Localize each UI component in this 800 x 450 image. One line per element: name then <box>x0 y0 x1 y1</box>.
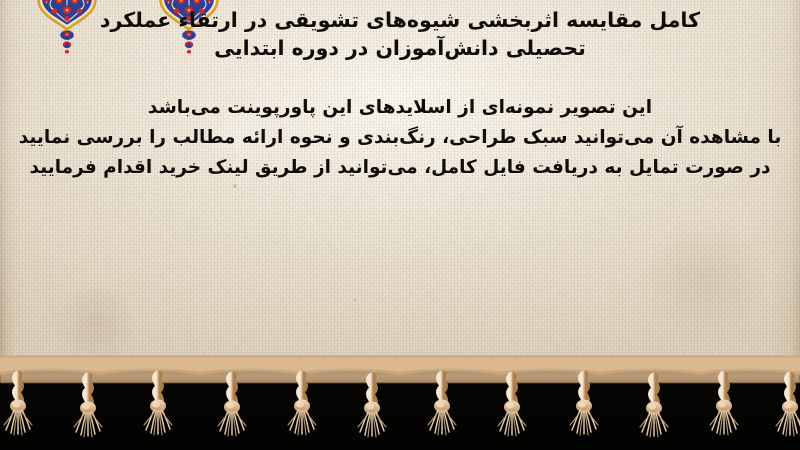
slide-title: کامل مقایسه اثربخشی شیوه‌های تشویقی در ا… <box>18 6 782 63</box>
carpet-fringe-tassels <box>0 355 800 450</box>
slide-text-area: کامل مقایسه اثربخشی شیوه‌های تشویقی در ا… <box>0 0 800 182</box>
slide-body: این تصویر نمونه‌ای از اسلایدهای این پاور… <box>18 93 782 183</box>
slide-body-line-2: با مشاهده آن می‌توانید سبک طراحی، رنگ‌بن… <box>18 123 782 153</box>
presentation-slide: کامل مقایسه اثربخشی شیوه‌های تشویقی در ا… <box>0 0 800 450</box>
slide-title-line-1: کامل مقایسه اثربخشی شیوه‌های تشویقی در ا… <box>18 6 782 34</box>
slide-body-line-1: این تصویر نمونه‌ای از اسلایدهای این پاور… <box>18 93 782 123</box>
slide-body-line-3: در صورت تمایل به دریافت فایل کامل، می‌تو… <box>18 153 782 183</box>
slide-title-line-2: تحصیلی دانش‌آموزان در دوره ابتدایی <box>18 34 782 62</box>
